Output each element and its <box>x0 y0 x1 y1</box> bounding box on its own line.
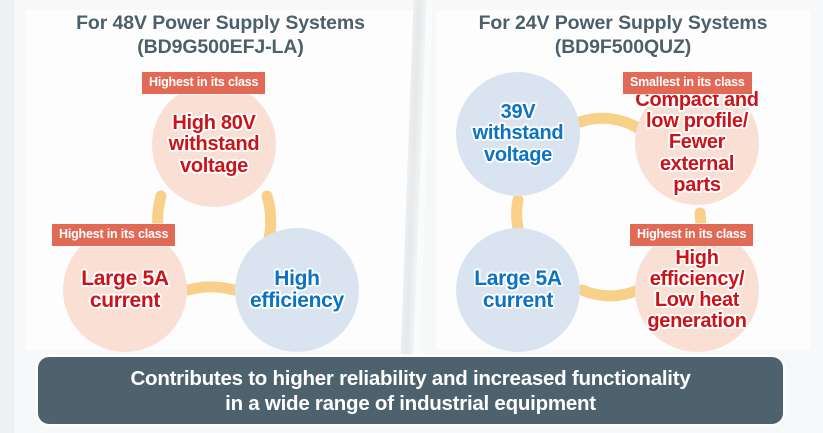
node-label: High efficiency/ Low heat generation <box>635 248 759 333</box>
infographic-canvas: For 48V Power Supply Systems (BD9G500EFJ… <box>0 0 823 433</box>
node-label: High 80V withstand voltage <box>169 113 260 177</box>
node-label: Large 5A current <box>474 268 561 313</box>
group-title-24v-line1: For 24V Power Supply Systems <box>438 12 808 36</box>
summary-banner: Contributes to higher reliability and in… <box>38 357 783 424</box>
node-label: 39V withstand voltage <box>473 102 564 166</box>
node-high-80v-withstand-voltage[interactable]: High 80V withstand voltage <box>152 83 276 207</box>
group-title-48v-line1: For 48V Power Supply Systems <box>28 12 413 36</box>
node-label: Compact and low profile/ Fewer external … <box>635 90 759 196</box>
node-label: Large 5A current <box>81 268 168 313</box>
node-compact-low-profile[interactable]: Compact and low profile/ Fewer external … <box>635 81 759 205</box>
badge-smallest-in-its-class: Smallest in its class <box>623 72 752 94</box>
node-high-efficiency[interactable]: High efficiency <box>235 228 359 352</box>
node-large-5a-current-24v[interactable]: Large 5A current <box>456 228 580 352</box>
node-label: High efficiency <box>250 268 344 313</box>
group-title-48v: For 48V Power Supply Systems (BD9G500EFJ… <box>28 12 413 60</box>
badge-highest-in-its-class-80v: Highest in its class <box>142 72 265 94</box>
badge-highest-in-its-class-5a-48v: Highest in its class <box>52 224 175 246</box>
node-large-5a-current-48v[interactable]: Large 5A current <box>63 228 187 352</box>
group-title-24v-line2: (BD9F500QUZ) <box>438 36 808 60</box>
background-left-band <box>0 0 14 433</box>
badge-highest-in-its-class-low-heat: Highest in its class <box>630 224 753 246</box>
node-high-efficiency-low-heat[interactable]: High efficiency/ Low heat generation <box>635 228 759 352</box>
group-title-48v-line2: (BD9G500EFJ-LA) <box>28 36 413 60</box>
summary-banner-text: Contributes to higher reliability and in… <box>131 366 691 416</box>
node-39v-withstand-voltage[interactable]: 39V withstand voltage <box>456 72 580 196</box>
group-title-24v: For 24V Power Supply Systems (BD9F500QUZ… <box>438 12 808 60</box>
